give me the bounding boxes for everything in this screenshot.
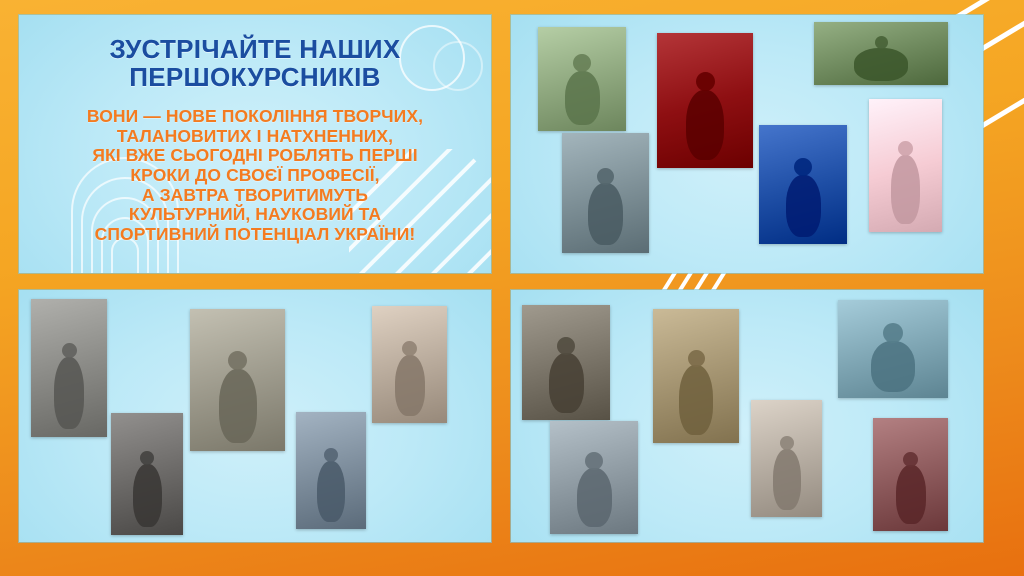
photo-p14 (653, 309, 739, 443)
photo-collage-top-right (511, 15, 983, 273)
photo-p15 (751, 400, 822, 517)
photo-subject (522, 305, 610, 420)
photo-subject (538, 27, 626, 131)
photo-p10 (296, 412, 366, 529)
photo-p3 (562, 133, 649, 253)
slide: ЗУСТРІЧАЙТЕ НАШИХ ПЕРШОКУРСНИКІВ ВОНИ — … (0, 0, 1024, 576)
photo-subject (838, 300, 948, 398)
photo-p5 (759, 125, 847, 244)
text-block: ЗУСТРІЧАЙТЕ НАШИХ ПЕРШОКУРСНИКІВ ВОНИ — … (19, 15, 491, 273)
photo-subject (653, 309, 739, 443)
photo-subject (751, 400, 822, 517)
photo-p7 (31, 299, 107, 437)
text-panel: ЗУСТРІЧАЙТЕ НАШИХ ПЕРШОКУРСНИКІВ ВОНИ — … (19, 15, 491, 273)
photo-subject (814, 22, 948, 85)
photo-p2 (657, 33, 753, 168)
photo-subject (111, 413, 183, 535)
page-title: ЗУСТРІЧАЙТЕ НАШИХ ПЕРШОКУРСНИКІВ (109, 35, 400, 91)
photo-subject (759, 125, 847, 244)
photo-collage-bottom-right (511, 290, 983, 542)
photo-p9 (190, 309, 285, 451)
photo-p16 (838, 300, 948, 398)
photo-p4 (814, 22, 948, 85)
photo-subject (296, 412, 366, 529)
photo-p17 (873, 418, 948, 531)
photo-subject (372, 306, 447, 423)
photo-p11 (372, 306, 447, 423)
photo-subject (657, 33, 753, 168)
body-copy: ВОНИ — НОВЕ ПОКОЛІННЯ ТВОРЧИХ, ТАЛАНОВИТ… (87, 107, 423, 244)
photo-p8 (111, 413, 183, 535)
photo-collage-bottom-left (19, 290, 491, 542)
photo-p13 (550, 421, 638, 534)
photo-p12 (522, 305, 610, 420)
photo-p6 (869, 99, 942, 232)
photo-p1 (538, 27, 626, 131)
photo-subject (550, 421, 638, 534)
photo-subject (869, 99, 942, 232)
photo-subject (31, 299, 107, 437)
photo-subject (562, 133, 649, 253)
photo-subject (190, 309, 285, 451)
photo-subject (873, 418, 948, 531)
